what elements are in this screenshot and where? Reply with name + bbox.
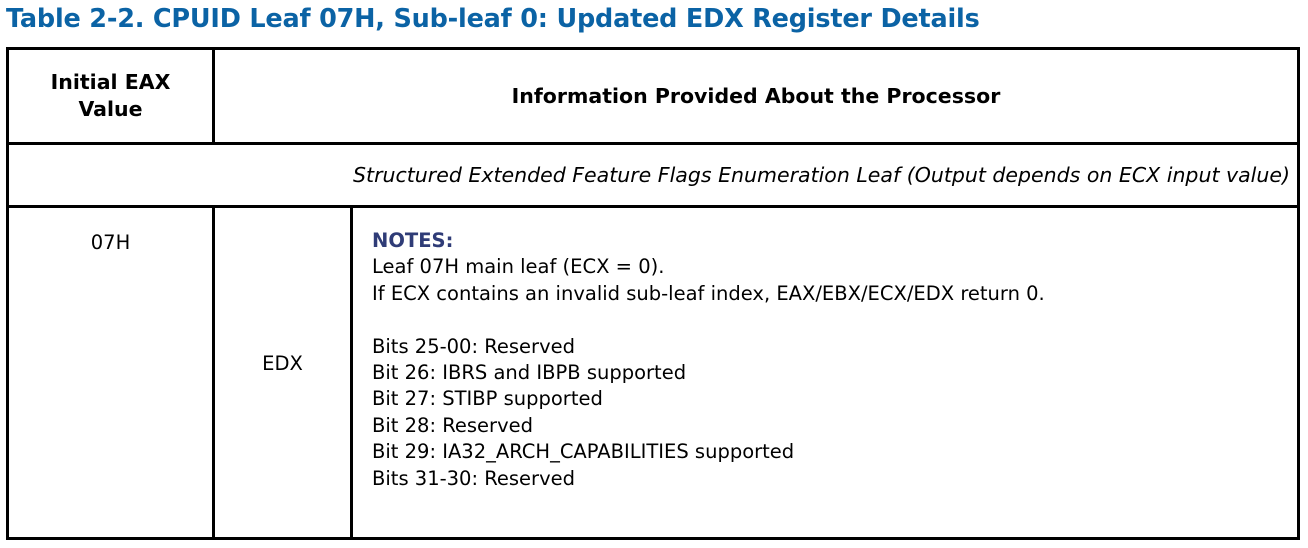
notes-label: NOTES: bbox=[372, 228, 1287, 254]
cell-eax-value: 07H bbox=[9, 208, 212, 537]
bit-line: Bits 25-00: Reserved bbox=[372, 334, 1287, 360]
paragraph-spacer bbox=[372, 307, 1287, 333]
cell-register: EDX bbox=[215, 208, 350, 537]
column-header-information-provided: Information Provided About the Processor bbox=[215, 50, 1297, 142]
column-header-initial-eax-line2: Value bbox=[51, 96, 171, 123]
bit-line: Bit 26: IBRS and IBPB supported bbox=[372, 360, 1287, 386]
note-line: Leaf 07H main leaf (ECX = 0). bbox=[372, 254, 1287, 280]
note-line: If ECX contains an invalid sub-leaf inde… bbox=[372, 281, 1287, 307]
table-caption-row: Structured Extended Feature Flags Enumer… bbox=[9, 145, 1297, 205]
column-header-initial-eax-value: Initial EAX Value bbox=[9, 50, 212, 142]
page-title: Table 2-2. CPUID Leaf 07H, Sub-leaf 0: U… bbox=[6, 2, 1302, 36]
bit-line: Bits 31-30: Reserved bbox=[372, 466, 1287, 492]
table-caption-text: Structured Extended Feature Flags Enumer… bbox=[353, 162, 1290, 188]
cpuid-table: Initial EAX Value Information Provided A… bbox=[6, 47, 1300, 540]
eax-value-text: 07H bbox=[91, 231, 130, 254]
table-page: Table 2-2. CPUID Leaf 07H, Sub-leaf 0: U… bbox=[0, 0, 1308, 548]
bit-line: Bit 29: IA32_ARCH_CAPABILITIES supported bbox=[372, 439, 1287, 465]
register-name-text: EDX bbox=[262, 352, 303, 375]
column-header-initial-eax-line1: Initial EAX bbox=[51, 69, 171, 96]
bit-line: Bit 28: Reserved bbox=[372, 413, 1287, 439]
column-header-information-provided-label: Information Provided About the Processor bbox=[512, 83, 1001, 110]
bit-line: Bit 27: STIBP supported bbox=[372, 386, 1287, 412]
cell-description: NOTES: Leaf 07H main leaf (ECX = 0). If … bbox=[353, 208, 1297, 537]
